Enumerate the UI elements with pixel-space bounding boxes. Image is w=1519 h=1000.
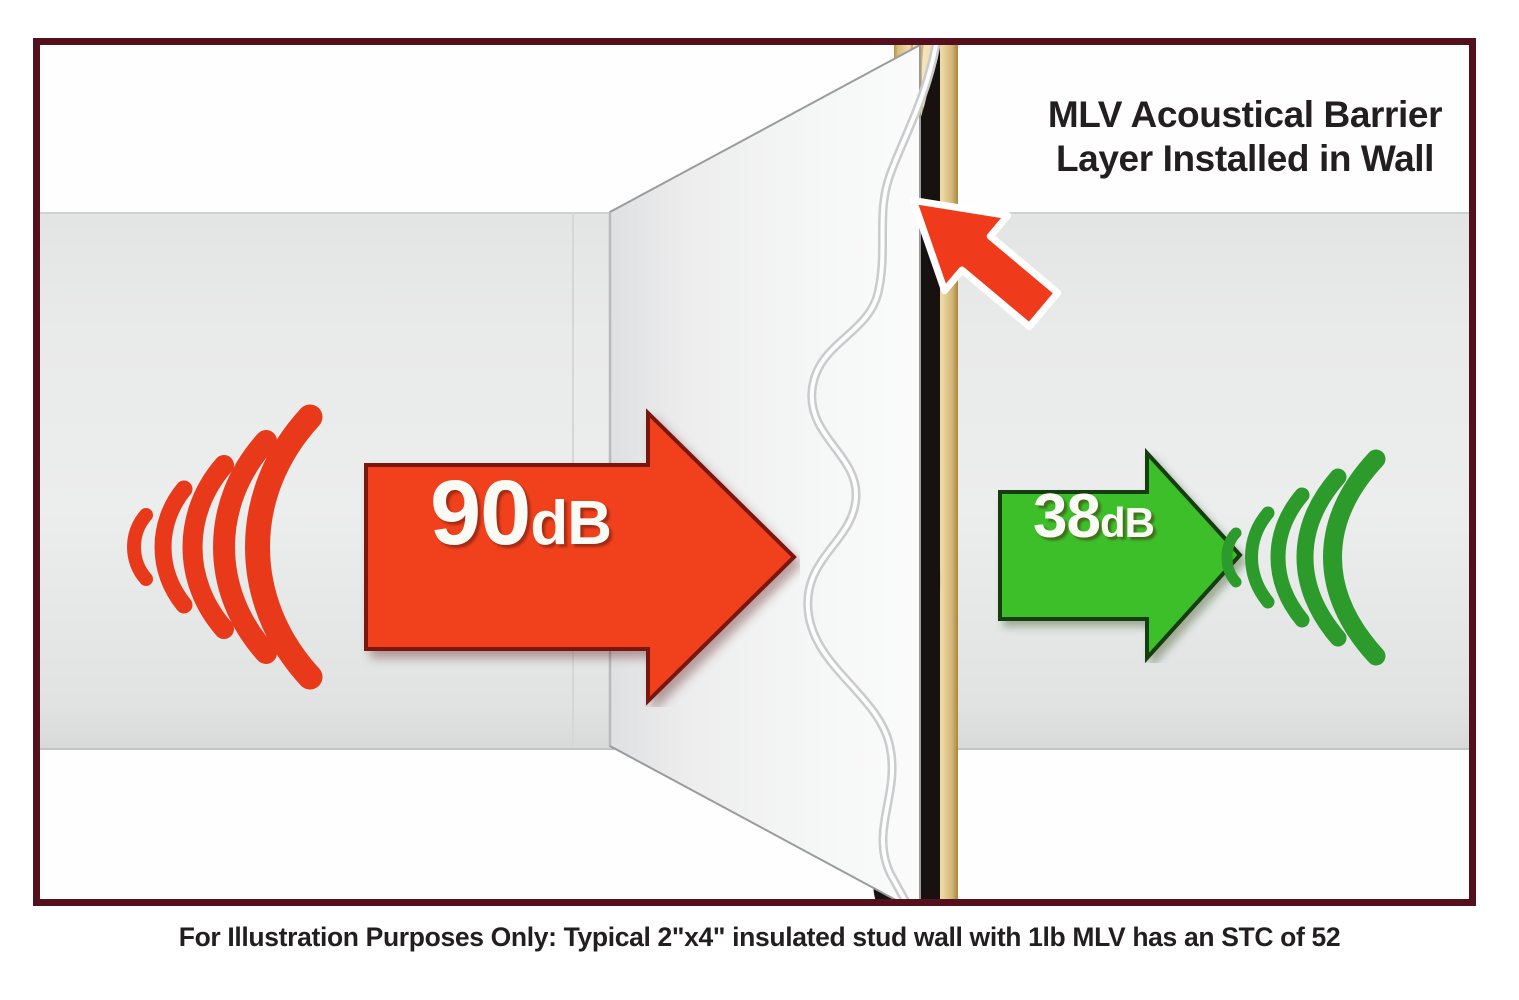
illustration-inner-canvas: 90dB 38dB — [40, 45, 1469, 899]
incoming-db-label: 90dB — [430, 467, 611, 559]
mlv-barrier-caption: MLV Acoustical Barrier Layer Installed i… — [1010, 93, 1469, 180]
outgoing-db-value: 38 — [1033, 482, 1100, 551]
outgoing-db-label: 38dB — [1033, 486, 1154, 548]
outgoing-db-arrow: 38dB — [995, 448, 1245, 668]
outgoing-db-unit: dB — [1100, 499, 1154, 546]
illustration-canvas: 90dB 38dB — [0, 0, 1519, 1000]
incoming-db-value: 90 — [430, 462, 530, 564]
mlv-pointer-arrow-icon — [860, 163, 1080, 338]
mlv-caption-line-1: MLV Acoustical Barrier — [1010, 93, 1469, 137]
outgoing-sound-waves-icon — [1220, 445, 1405, 675]
illustration-disclaimer-caption: For Illustration Purposes Only: Typical … — [0, 922, 1519, 953]
illustration-frame: 90dB 38dB — [33, 38, 1476, 906]
mlv-caption-line-2: Layer Installed in Wall — [1010, 137, 1469, 181]
incoming-sound-waves-icon — [122, 397, 352, 702]
incoming-db-unit: dB — [530, 489, 611, 558]
incoming-db-arrow: 90dB — [360, 407, 800, 712]
